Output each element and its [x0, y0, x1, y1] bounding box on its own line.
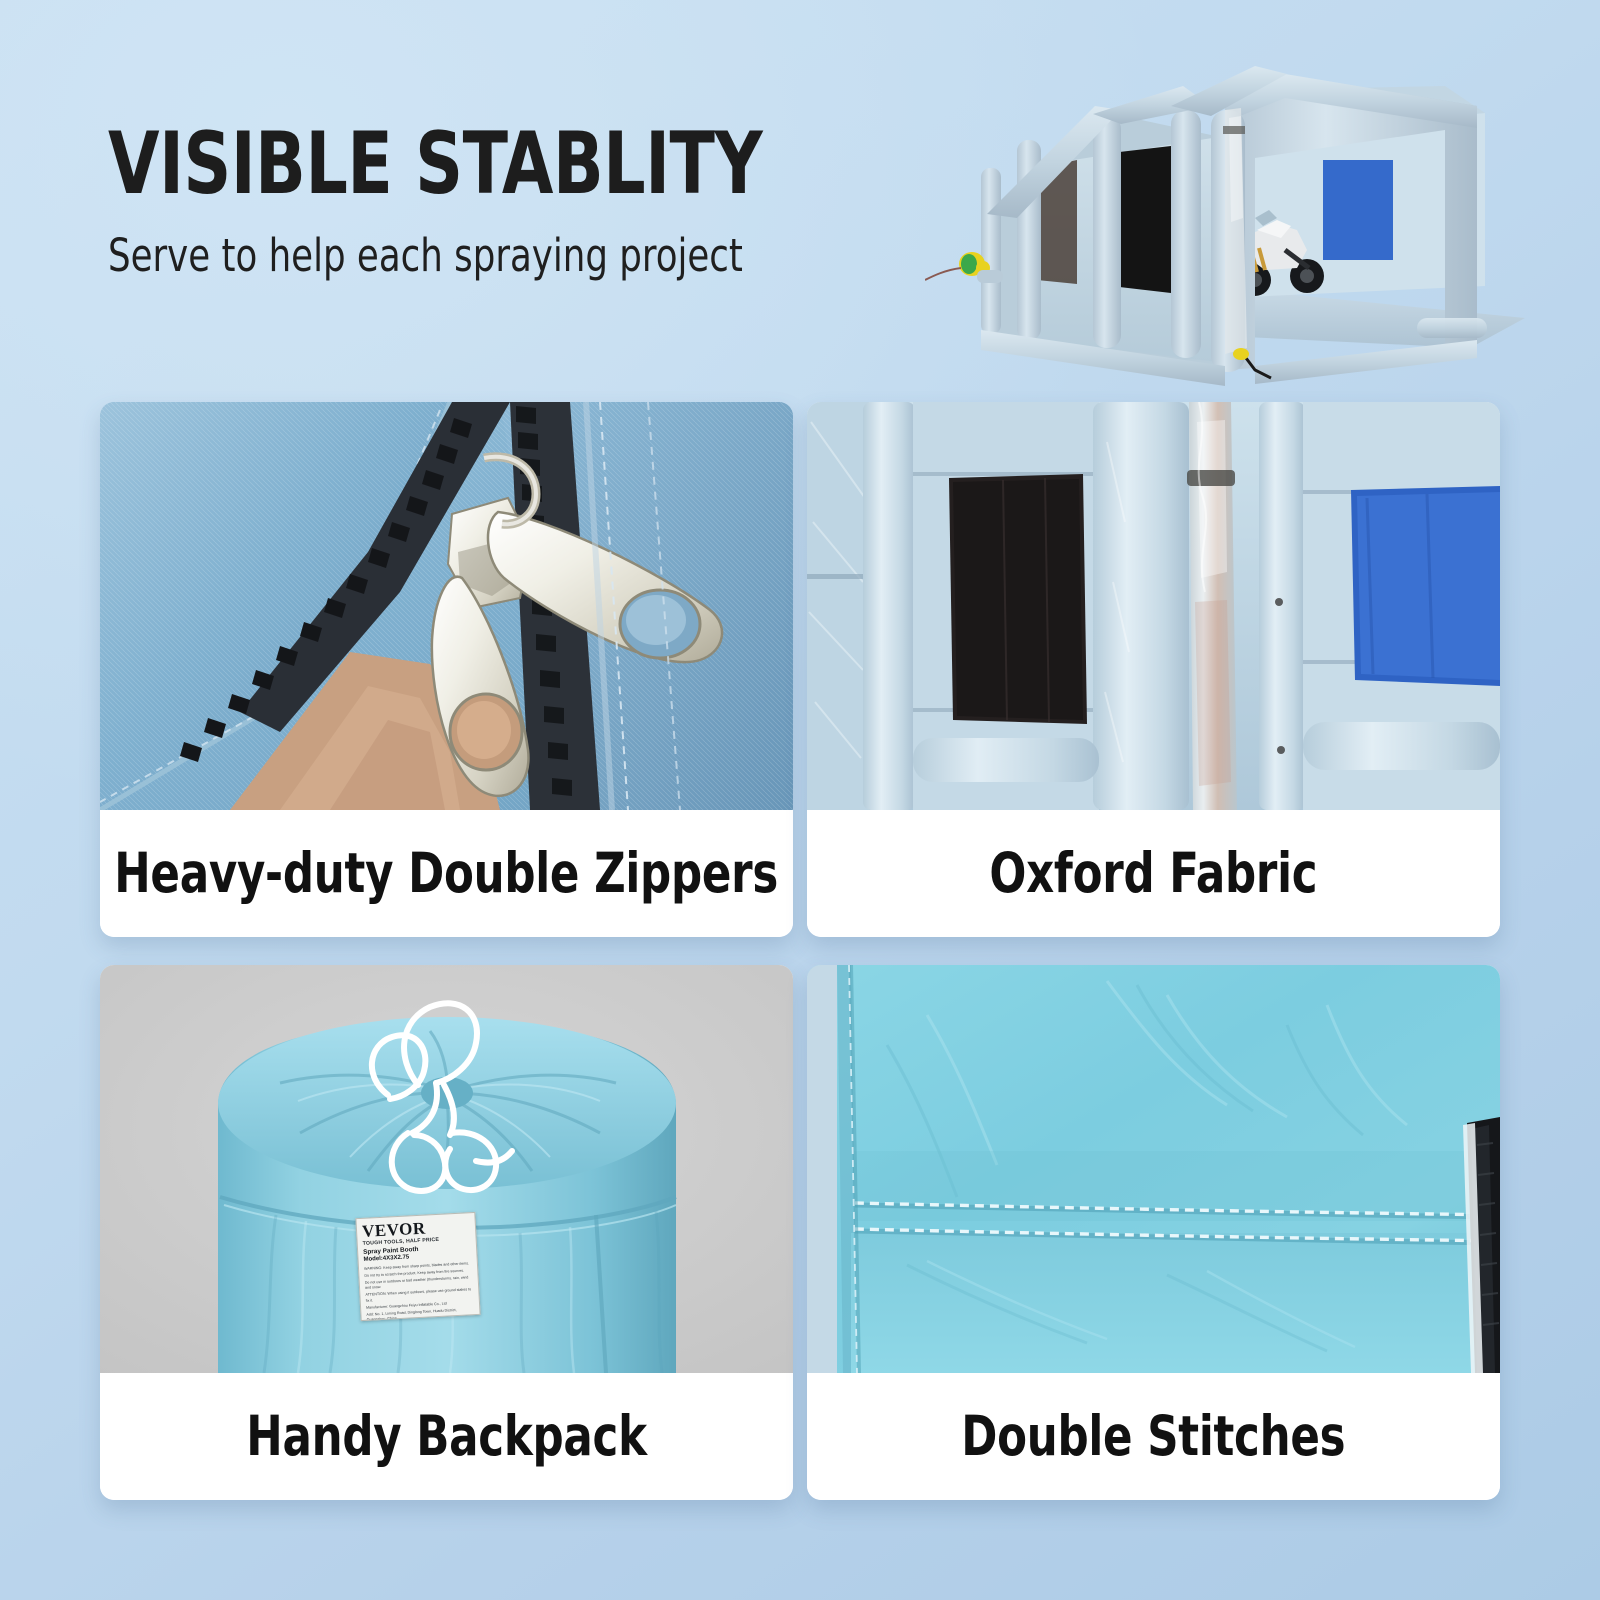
feature-card-oxford: Oxford Fabric	[807, 402, 1500, 937]
page-subtitle: Serve to help each spraying project	[108, 232, 830, 279]
caption-band-backpack: Handy Backpack	[100, 1373, 793, 1500]
zipper-closeup-photo	[100, 402, 793, 810]
caption-text: Double Stitches	[961, 1409, 1345, 1464]
caption-text: Heavy-duty Double Zippers	[115, 846, 779, 901]
feature-card-zippers: Heavy-duty Double Zippers	[100, 402, 793, 937]
page-title: VISIBLE STABLITY	[108, 122, 813, 206]
caption-band-oxford: Oxford Fabric	[807, 810, 1500, 937]
oxford-fabric-closeup-photo	[807, 402, 1500, 810]
double-stitch-seam-closeup-photo	[807, 965, 1500, 1373]
storage-backpack-bag-photo: VEVOR TOUGH TOOLS, HALF PRICE Spray Pain…	[100, 965, 793, 1373]
feature-card-backpack: VEVOR TOUGH TOOLS, HALF PRICE Spray Pain…	[100, 965, 793, 1500]
hero-product-image	[925, 18, 1565, 390]
caption-band-zippers: Heavy-duty Double Zippers	[100, 810, 793, 937]
caption-band-stitches: Double Stitches	[807, 1373, 1500, 1500]
header-block: VISIBLE STABLITY Serve to help each spra…	[108, 122, 928, 280]
caption-text: Handy Backpack	[246, 1409, 646, 1464]
caption-text: Oxford Fabric	[990, 846, 1318, 901]
feature-card-stitches: Double Stitches	[807, 965, 1500, 1500]
vevor-product-label: VEVOR TOUGH TOOLS, HALF PRICE Spray Pain…	[355, 1212, 480, 1321]
feature-card-grid: Heavy-duty Double Zippers	[100, 402, 1500, 1532]
infographic-page: VISIBLE STABLITY Serve to help each spra…	[0, 0, 1600, 1600]
